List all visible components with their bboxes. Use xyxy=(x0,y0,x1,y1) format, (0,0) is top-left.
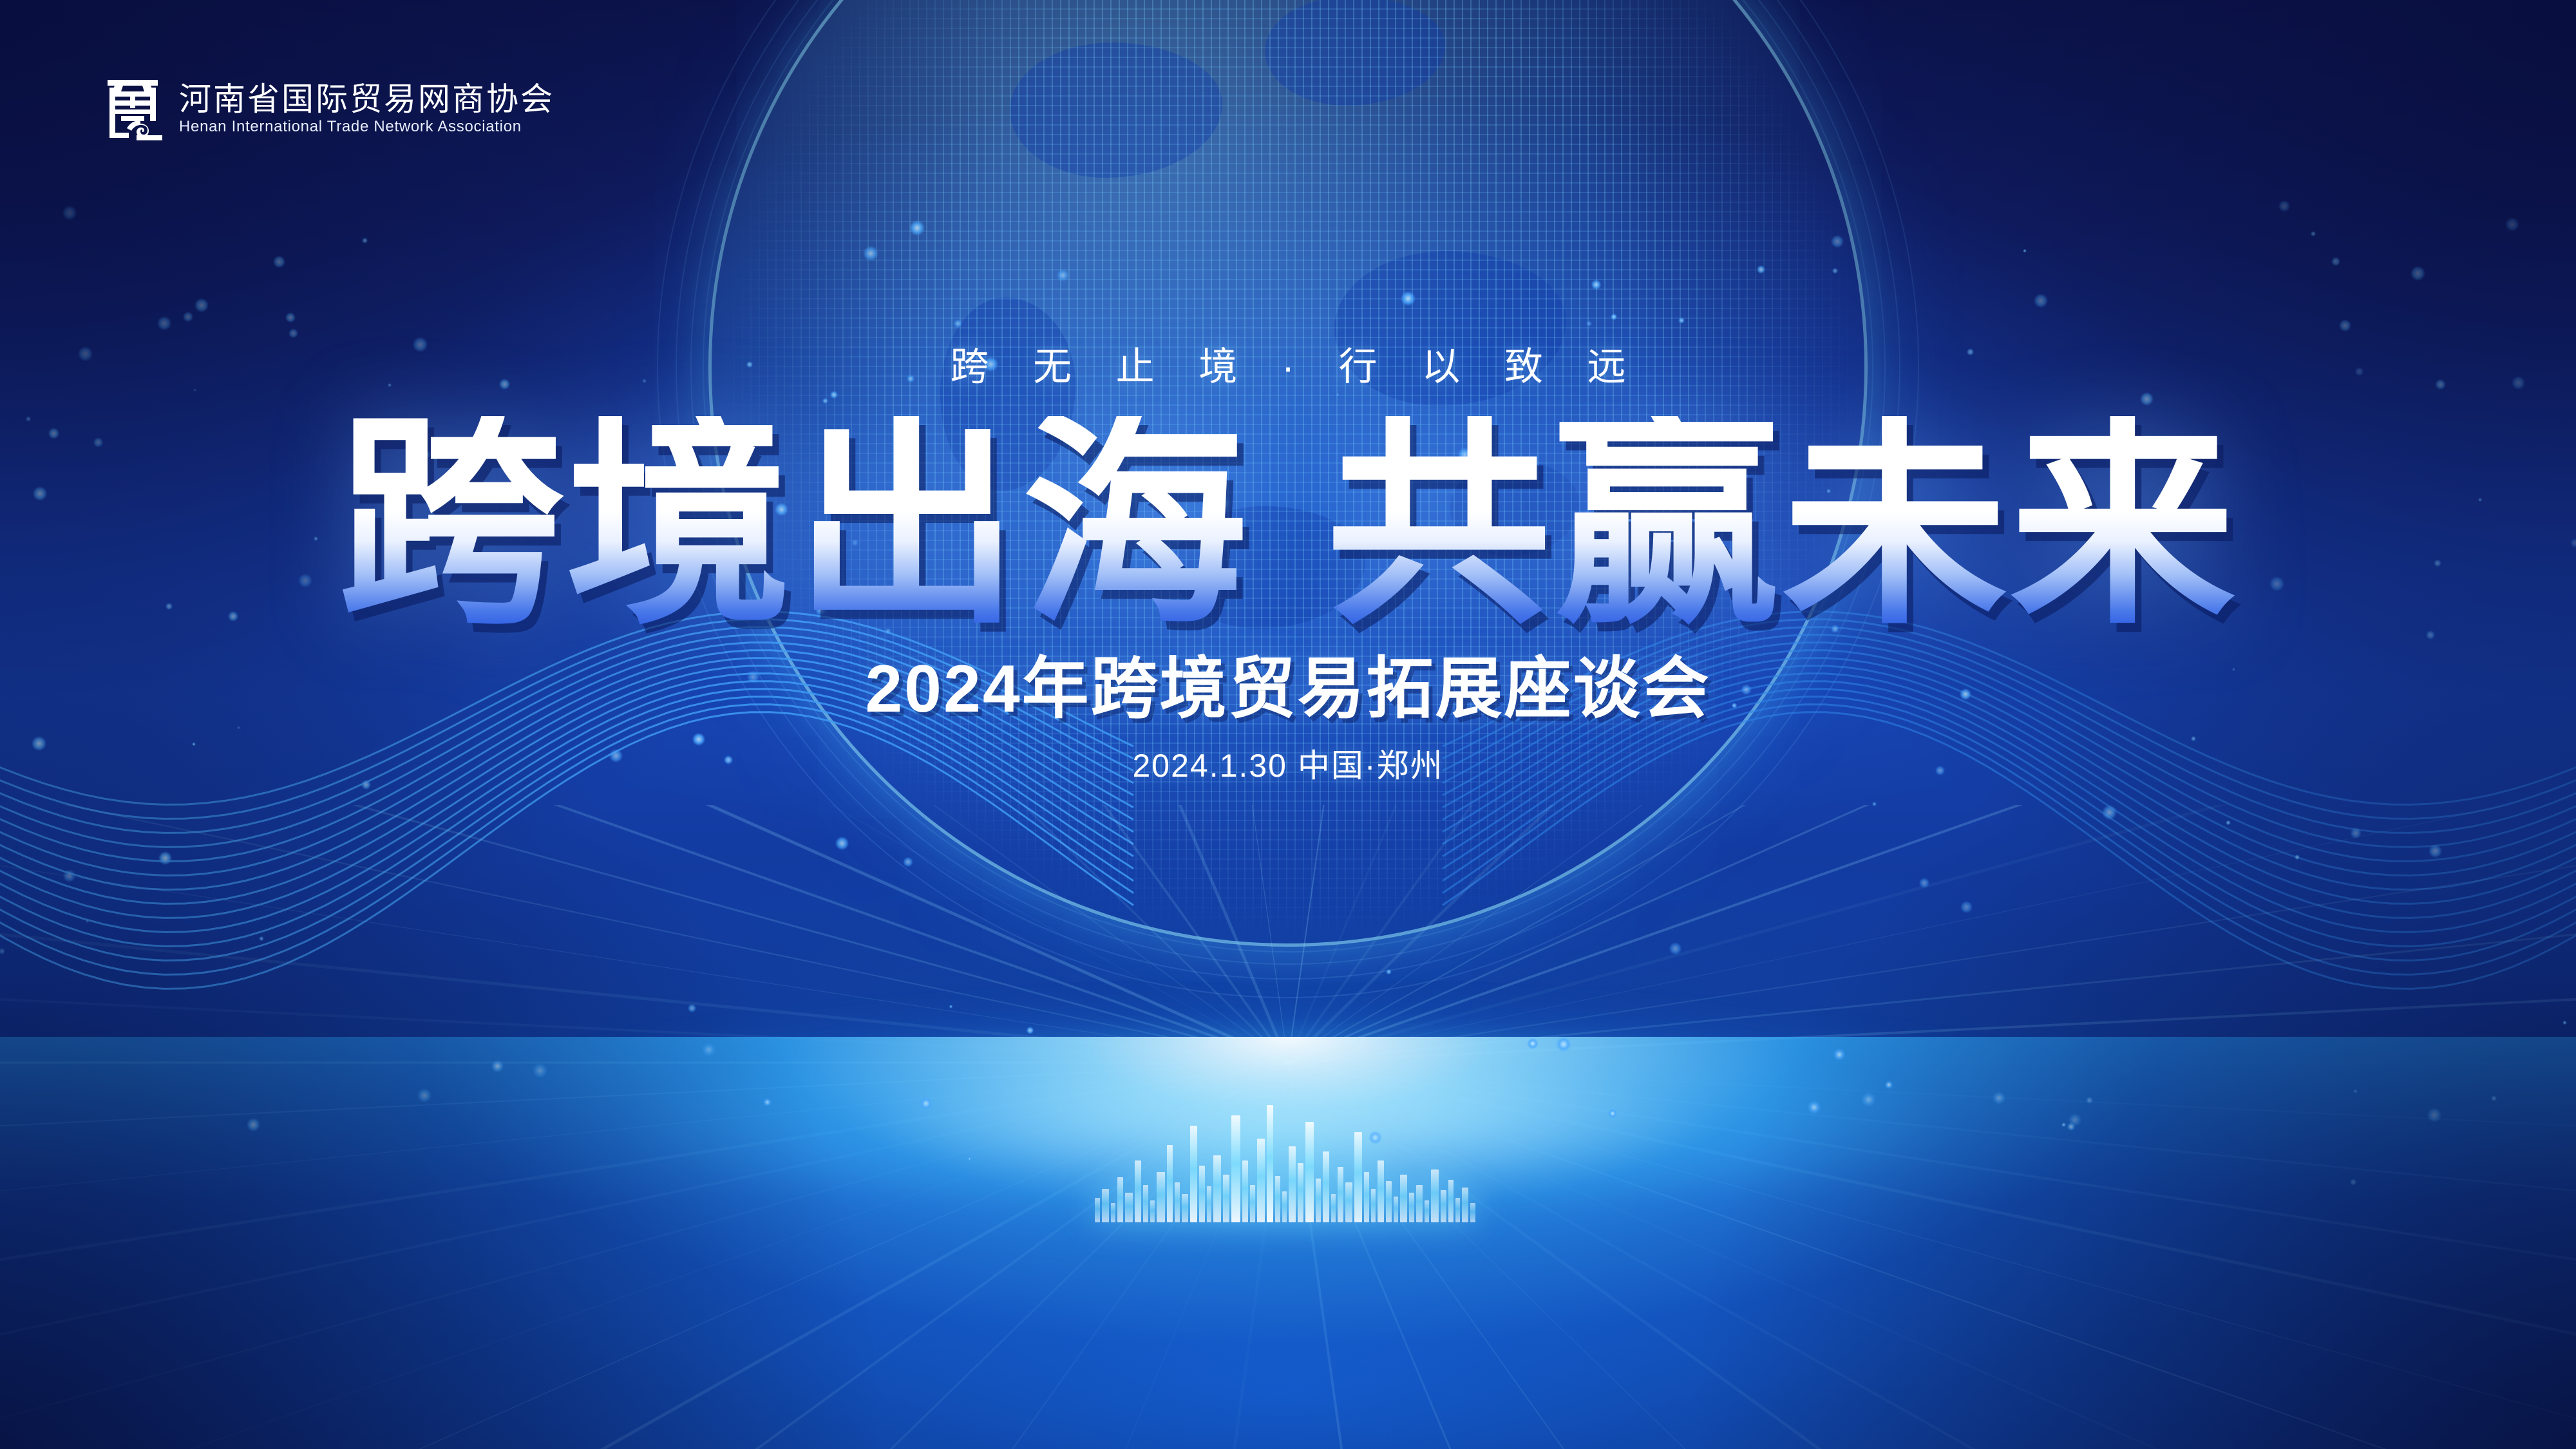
city-building xyxy=(1167,1145,1173,1222)
city-building xyxy=(1157,1172,1165,1222)
city-building xyxy=(1150,1200,1155,1222)
city-building xyxy=(1289,1146,1296,1222)
city-building xyxy=(1441,1190,1446,1222)
city-building xyxy=(1135,1160,1141,1222)
city-building xyxy=(1111,1203,1115,1222)
city-building xyxy=(1338,1167,1343,1222)
city-building xyxy=(1386,1181,1392,1222)
city-building xyxy=(1400,1175,1407,1222)
poster-text-block: 跨 无 止 境 · 行 以 致 远 跨境出海 共赢未来 2024年跨境贸易拓展座… xyxy=(0,0,2576,782)
city-building xyxy=(1242,1160,1248,1222)
city-building xyxy=(1182,1194,1188,1222)
city-building xyxy=(1394,1197,1398,1222)
city-building xyxy=(1175,1182,1180,1222)
city-building xyxy=(1378,1160,1384,1222)
city-building xyxy=(1364,1172,1369,1222)
city-building xyxy=(1409,1193,1414,1222)
poster-date-location: 2024.1.30 中国·郑州 xyxy=(0,750,2576,782)
city-building xyxy=(1125,1193,1133,1222)
city-building xyxy=(1323,1151,1329,1222)
city-building xyxy=(1199,1166,1205,1222)
city-building xyxy=(1455,1198,1460,1222)
city-building xyxy=(1143,1185,1148,1222)
glass-cityscape-icon xyxy=(1095,1100,1481,1222)
city-building xyxy=(1462,1188,1468,1222)
light-floor xyxy=(0,1037,2576,1449)
poster-headline: 跨境出海 共赢未来 xyxy=(0,416,2576,632)
city-building xyxy=(1354,1132,1362,1222)
city-building xyxy=(1231,1115,1240,1222)
poster-tagline: 跨 无 止 境 · 行 以 致 远 xyxy=(0,348,2576,386)
city-building xyxy=(1223,1175,1229,1222)
city-building xyxy=(1213,1155,1221,1222)
city-building xyxy=(1117,1177,1123,1222)
conference-poster: 河南省国际贸易网商协会 Henan International Trade Ne… xyxy=(0,0,2576,1449)
city-building xyxy=(1267,1105,1273,1222)
city-building xyxy=(1282,1191,1287,1222)
poster-subtitle: 2024年跨境贸易拓展座谈会 xyxy=(0,656,2576,723)
city-building xyxy=(1095,1198,1100,1222)
headline-part-right: 共赢未来 xyxy=(1326,416,2238,632)
city-building xyxy=(1371,1189,1376,1222)
city-building xyxy=(1250,1185,1255,1222)
city-building xyxy=(1305,1122,1314,1222)
city-building xyxy=(1331,1194,1336,1222)
city-building xyxy=(1102,1189,1109,1222)
city-building xyxy=(1448,1180,1454,1222)
city-building xyxy=(1207,1186,1211,1222)
headline-part-left: 跨境出海 xyxy=(338,416,1250,632)
city-building xyxy=(1298,1163,1303,1222)
city-building xyxy=(1431,1170,1439,1222)
city-building xyxy=(1470,1203,1475,1222)
city-building xyxy=(1345,1182,1352,1222)
city-building xyxy=(1257,1139,1265,1222)
city-building xyxy=(1425,1200,1429,1222)
city-building xyxy=(1316,1179,1321,1222)
city-building xyxy=(1275,1176,1280,1222)
city-building xyxy=(1416,1185,1423,1222)
city-building xyxy=(1190,1126,1197,1222)
